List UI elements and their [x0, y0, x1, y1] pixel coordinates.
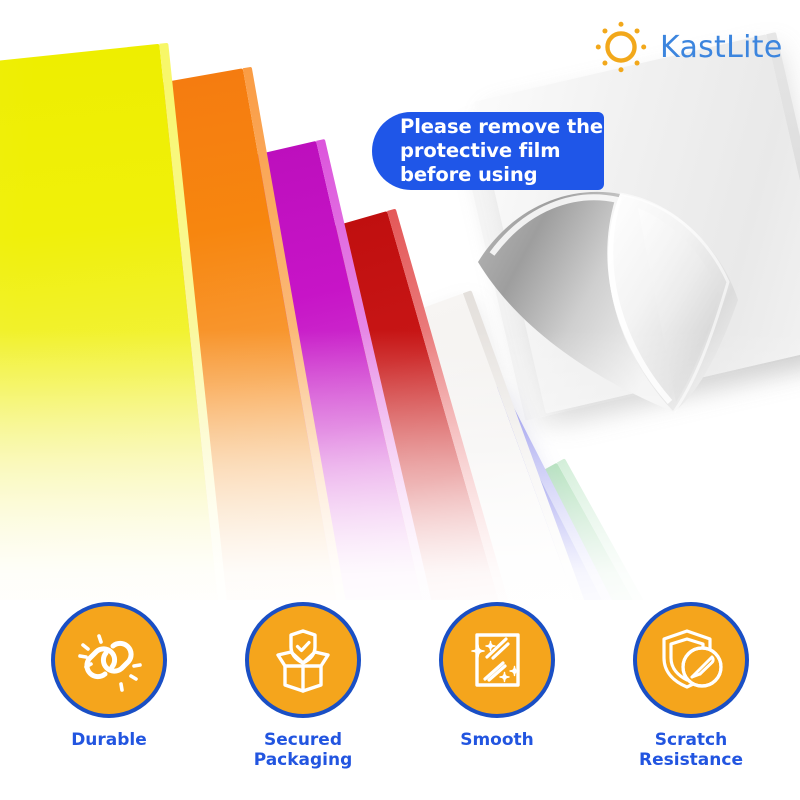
feature-badge [633, 602, 749, 718]
feature-secured-packaging[interactable]: Secured Packaging [237, 602, 369, 770]
protective-film-peel [470, 150, 790, 450]
sparkle-panel-icon [463, 626, 531, 694]
feature-label: Secured Packaging [254, 730, 353, 770]
feature-label: Durable [71, 730, 147, 750]
instruction-banner-text: Please remove the protective film before… [400, 115, 603, 188]
shield-box-icon [268, 625, 338, 695]
sun-icon [592, 18, 650, 76]
feature-durable[interactable]: Durable [43, 602, 175, 750]
feature-badge [439, 602, 555, 718]
shield-knife-icon [656, 625, 726, 695]
brand-logo: KastLite [592, 18, 783, 76]
feature-smooth[interactable]: Smooth [431, 602, 563, 750]
chain-link-icon [75, 626, 143, 694]
instruction-banner: Please remove the protective film before… [372, 112, 604, 190]
feature-list: Durable Secured Packaging [0, 602, 800, 770]
product-image: KastLite Please remove the protective fi… [0, 0, 800, 800]
feature-label: Scratch Resistance [639, 730, 743, 770]
feature-scratch-resistance[interactable]: Scratch Resistance [625, 602, 757, 770]
brand-name: KastLite [660, 30, 783, 65]
feature-badge [51, 602, 167, 718]
feature-label: Smooth [460, 730, 534, 750]
feature-badge [245, 602, 361, 718]
